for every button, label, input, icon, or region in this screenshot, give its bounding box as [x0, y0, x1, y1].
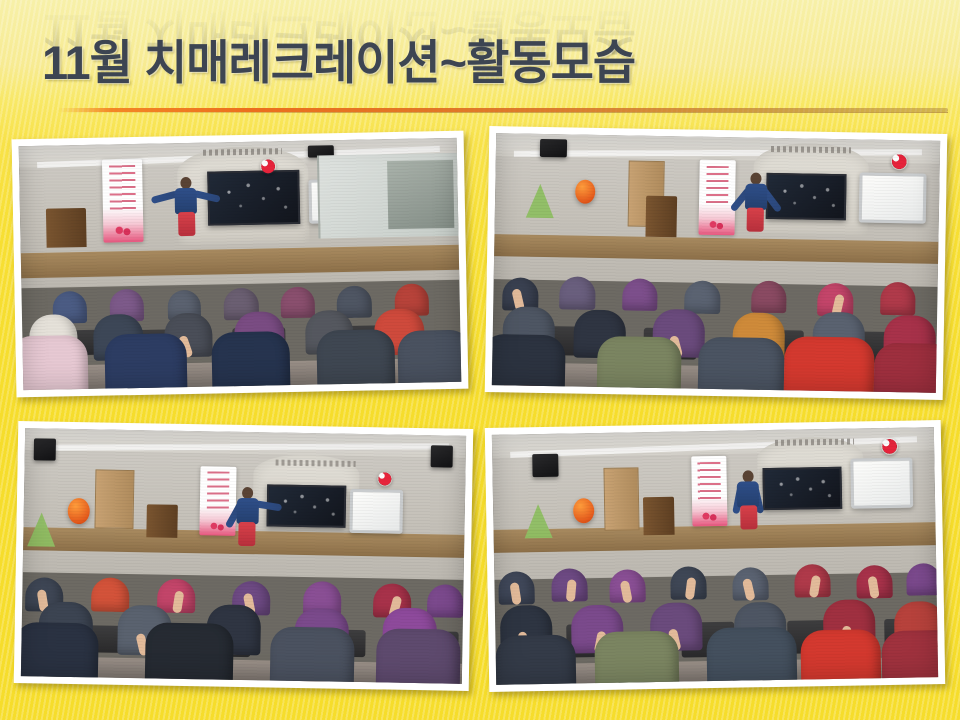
photo-top-left-image: [19, 138, 462, 390]
title-block: 11월 치매레크레이션~활동모습 11월 치매레크레이션~활동모습: [0, 8, 960, 108]
speaker-icon: [532, 454, 559, 477]
whiteboard-icon: [850, 458, 913, 509]
speaker-icon: [540, 139, 567, 157]
photo-top-left[interactable]: [12, 131, 469, 398]
speaker-icon: [33, 438, 55, 461]
tv-screen-icon: [208, 170, 301, 225]
title-divider-hairline: [58, 112, 948, 113]
whiteboard-icon: [859, 172, 926, 224]
wall-banner-icon: [102, 158, 143, 242]
photo-top-right[interactable]: [485, 126, 948, 400]
door-icon: [94, 469, 135, 529]
photo-top-right-image: [492, 133, 940, 393]
whiteboard-icon: [350, 488, 404, 534]
page-title: 11월 치매레크레이션~활동모습: [42, 24, 635, 93]
triangle-prop-icon: [526, 184, 555, 218]
tv-screen-icon: [766, 173, 847, 220]
page-title-reflection: 11월 치매레크레이션~활동모습: [42, 1, 635, 70]
flower-decoration-icon: [891, 153, 908, 170]
photo-bottom-right-image: [492, 427, 938, 685]
photo-bottom-left[interactable]: [14, 421, 474, 691]
slide-canvas: 11월 치매레크레이션~활동모습 11월 치매레크레이션~활동모습: [0, 0, 960, 720]
speaker-icon: [430, 445, 452, 468]
photo-bottom-left-image: [21, 428, 466, 684]
photo-bottom-right[interactable]: [485, 420, 946, 692]
flower-decoration-icon: [881, 438, 898, 455]
